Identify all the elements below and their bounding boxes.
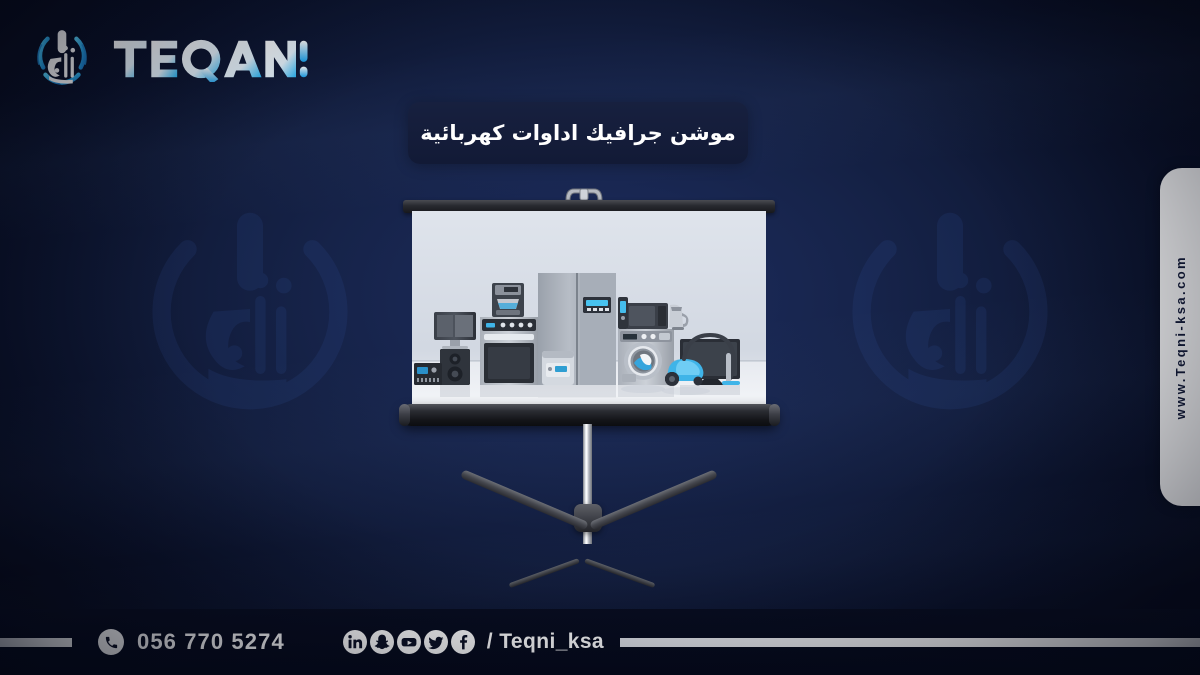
background-watermark-logo-icon [820,192,1080,452]
screen-surface [412,211,766,407]
roller-end-cap [399,404,410,426]
website-url-tab[interactable]: www.Teqni-ksa.com [1160,168,1200,506]
screen-bottom-roller [400,404,779,426]
phone-contact[interactable]: 056 770 5274 [98,629,285,655]
footer-rule-right [620,638,1200,647]
youtube-icon[interactable] [397,630,421,654]
linkedin-icon[interactable] [343,630,367,654]
title-banner: موشن جرافيك اداوات كهربائية [408,102,748,164]
website-url: www.Teqni-ksa.com [1173,255,1188,419]
snapchat-icon[interactable] [370,630,394,654]
twitter-icon[interactable] [424,630,448,654]
tripod-leg [589,469,718,530]
banner-canvas: موشن جرافيك اداوات كهربائية [0,0,1200,675]
roller-end-cap [769,404,780,426]
background-watermark-logo-icon [120,192,380,452]
footer-bar: 056 770 5274 [0,609,1200,675]
social-links[interactable]: / Teqni_ksa [343,630,604,654]
tripod-leg [460,469,589,530]
social-handle: / Teqni_ksa [487,630,604,654]
brand-wordmark [112,36,313,82]
phone-number: 056 770 5274 [137,629,285,655]
phone-icon [98,629,124,655]
facebook-icon[interactable] [451,630,475,654]
brand-logo[interactable] [26,20,313,98]
footer-rule-left [0,638,72,647]
tripod-brace [584,558,655,588]
power-button-logo-icon [26,20,98,98]
projector-screen-stand [395,186,795,576]
page-title: موشن جرافيك اداوات كهربائية [420,121,736,145]
tripod-brace [509,558,580,588]
